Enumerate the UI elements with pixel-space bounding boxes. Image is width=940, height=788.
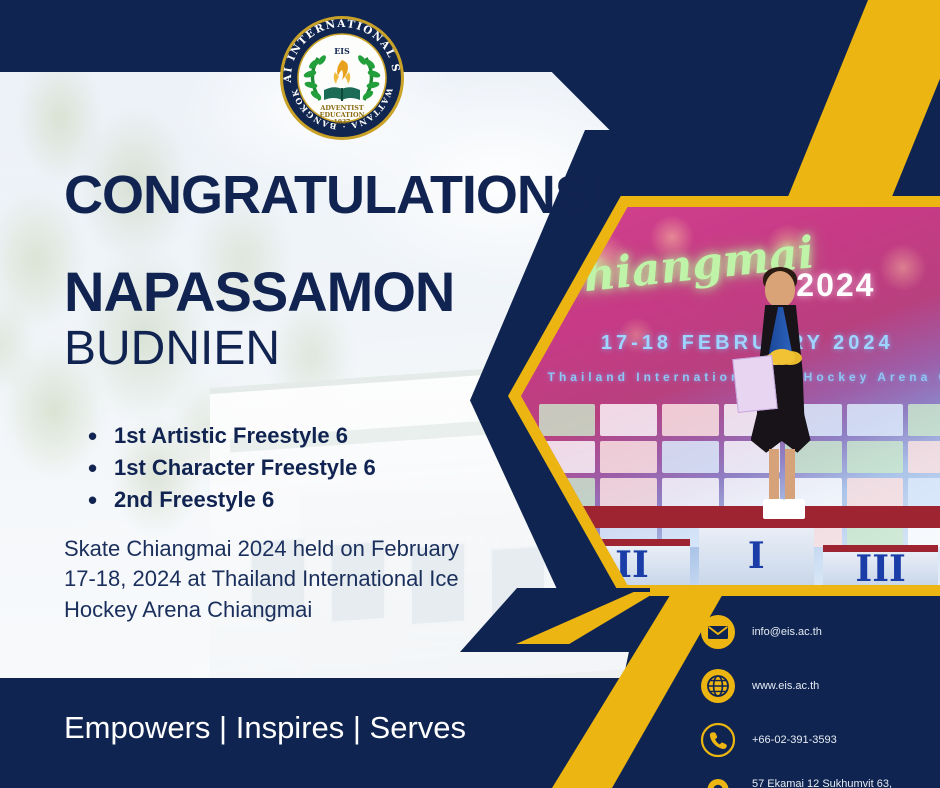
podium-block-second: II	[574, 539, 689, 585]
awardee-first-name: NAPASSAMON	[64, 264, 454, 320]
contact-row-website[interactable]: www.eis.ac.th	[698, 666, 930, 706]
contact-row-address[interactable]: 57 Ekamai 12 Sukhumvit 63, Klongtan Nua,…	[698, 774, 930, 788]
contact-phone-value: +66-02-391-3593	[752, 720, 837, 749]
skater-photo-subject	[739, 271, 825, 521]
svg-text:EIS: EIS	[334, 46, 350, 56]
awardee-last-name: BUDNIEN	[64, 325, 280, 373]
location-icon	[698, 774, 738, 788]
podium-block-first: I	[699, 521, 814, 585]
award-item: 1st Character Freestyle 6	[82, 452, 376, 484]
page-title: CONGRATULATIONS!	[64, 168, 607, 222]
contact-email-value: info@eis.ac.th	[752, 612, 822, 641]
svg-text:1937: 1937	[334, 119, 351, 126]
svg-text:EDUCATION: EDUCATION	[320, 111, 365, 119]
podium-block-third: III	[823, 545, 938, 585]
contact-row-email[interactable]: info@eis.ac.th	[698, 612, 930, 652]
contact-info-block: info@eis.ac.th www.eis.ac.th	[698, 612, 930, 788]
congratulations-poster: EKAMAI INTERNATIONAL Chiangmai 2024 17-1…	[0, 0, 940, 788]
school-seal-logo: EKAMAI INTERNATIONAL SCHOOL WATTANA · BA…	[278, 14, 406, 142]
awards-list: 1st Artistic Freestyle 6 1st Character F…	[82, 420, 376, 516]
contact-address-value: 57 Ekamai 12 Sukhumvit 63, Klongtan Nua,…	[752, 774, 930, 788]
contact-row-phone[interactable]: +66-02-391-3593	[698, 720, 930, 760]
contact-website-value: www.eis.ac.th	[752, 666, 819, 695]
globe-icon	[698, 666, 738, 706]
phone-icon	[698, 720, 738, 760]
event-description: Skate Chiangmai 2024 held on February 17…	[64, 534, 484, 625]
school-motto: Empowers | Inspires | Serves	[64, 710, 466, 746]
award-item: 1st Artistic Freestyle 6	[82, 420, 376, 452]
email-icon	[698, 612, 738, 652]
award-item: 2nd Freestyle 6	[82, 484, 376, 516]
hexagon-photo-frame: Chiangmai 2024 17-18 FEBRUARY 2024 Thail…	[508, 196, 940, 596]
